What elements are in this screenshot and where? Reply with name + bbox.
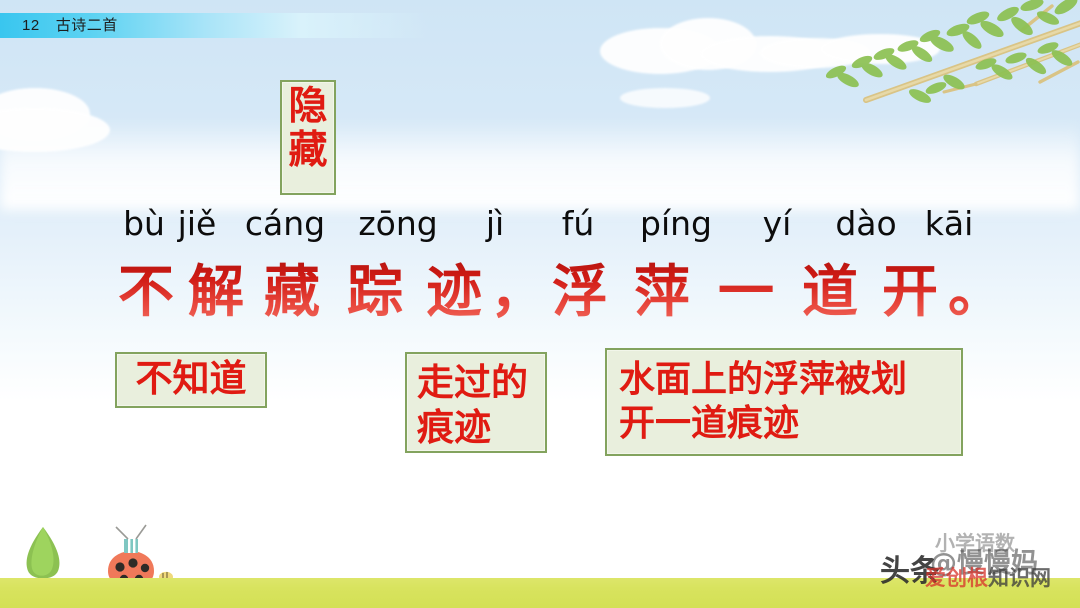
lesson-title: 古诗二首	[56, 17, 118, 34]
poem-punct: ，	[490, 247, 540, 328]
pinyin-syllable: jiě	[168, 204, 226, 243]
willow-branch-icon	[826, 0, 1080, 126]
pinyin-syllable: jì	[452, 204, 538, 243]
poem-punct: 。	[948, 247, 994, 328]
callout-vertical-cang[interactable]: 隐 藏	[280, 80, 336, 195]
callout-line: 不知道	[136, 357, 247, 400]
pinyin-syllable: píng	[618, 204, 734, 243]
grass-strip	[0, 578, 1080, 608]
callout-bu-zhi-dao[interactable]: 不知道	[115, 352, 267, 408]
poem-char: 藏	[252, 247, 332, 328]
poem-char: 踪	[332, 247, 418, 328]
poem-line: 不 解 藏 踪 迹 ， 浮 萍 一 道 开 。	[112, 248, 1007, 326]
slide-canvas: 12古诗二首	[0, 0, 1080, 608]
poem-char: 开	[872, 247, 948, 328]
callout-line: 隐	[282, 85, 334, 129]
callout-line: 水面上的浮萍被划	[619, 358, 961, 402]
watermark-channel: 小学语数	[935, 527, 1015, 556]
poem-char: 解	[180, 247, 252, 328]
pinyin-syllable: zōng	[344, 204, 452, 243]
callout-shui-mian-fu-ping[interactable]: 水面上的浮萍被划 开一道痕迹	[605, 348, 963, 456]
poem-char: 一	[704, 247, 788, 328]
pinyin-syllable: bù	[120, 204, 168, 243]
pinyin-syllable: fú	[538, 204, 618, 243]
page-title: 12古诗二首	[22, 14, 118, 38]
poem-char: 迹	[418, 247, 490, 328]
callout-line: 痕迹	[417, 405, 545, 450]
poem-char: 道	[788, 247, 872, 328]
callout-zou-guo-de-hen-ji[interactable]: 走过的 痕迹	[405, 352, 547, 453]
pinyin-row: bù jiě cáng zōng jì fú píng yí dào kāi	[120, 200, 1000, 246]
pinyin-syllable: yí	[734, 204, 820, 243]
cloud-band	[0, 120, 1080, 210]
lesson-number: 12	[22, 17, 40, 34]
pinyin-syllable: dào	[820, 204, 912, 243]
poem-char: 萍	[620, 247, 704, 328]
poem-char: 浮	[540, 247, 620, 328]
poem-char: 不	[112, 247, 180, 328]
callout-line: 走过的	[417, 360, 545, 405]
watermark-account: @慢慢妈	[930, 541, 1038, 580]
pinyin-syllable: cáng	[226, 204, 344, 243]
callout-line: 藏	[282, 129, 334, 173]
cloud-icon	[620, 88, 710, 108]
pinyin-syllable: kāi	[912, 204, 986, 243]
callout-line: 开一道痕迹	[619, 402, 961, 446]
